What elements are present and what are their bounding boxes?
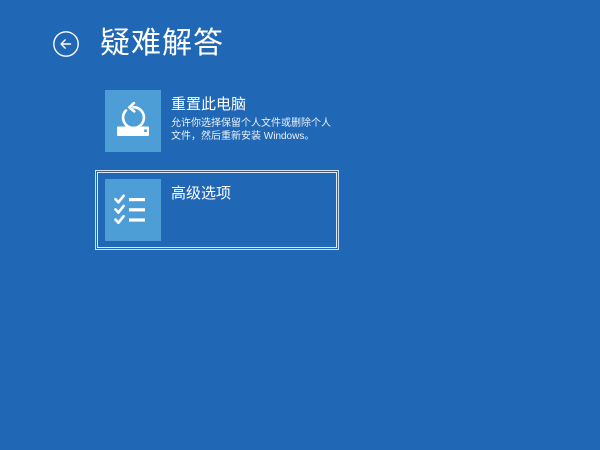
option-description-line: 允许你选择保留个人文件或删除个人 [171,117,331,130]
option-advanced-options[interactable]: 高级选项 [97,172,337,248]
option-description: 允许你选择保留个人文件或删除个人 文件，然后重新安装 Windows。 [171,117,331,143]
option-reset-this-pc[interactable]: 重置此电脑 允许你选择保留个人文件或删除个人 文件，然后重新安装 Windows… [97,83,337,159]
option-title: 重置此电脑 [171,95,331,114]
page-title: 疑难解答 [100,27,224,61]
checklist-icon [105,179,161,241]
reset-pc-icon [105,90,161,152]
option-text: 重置此电脑 允许你选择保留个人文件或删除个人 文件，然后重新安装 Windows… [171,90,331,143]
recovery-screen: 疑难解答 重置此电脑 允许你选择保留个人文件或删除个人 文件，然后重新安装 Wi… [0,0,600,450]
option-description-line: 文件，然后重新安装 Windows。 [171,130,331,143]
page-header: 疑难解答 [52,22,224,66]
option-list: 重置此电脑 允许你选择保留个人文件或删除个人 文件，然后重新安装 Windows… [97,83,337,248]
option-title: 高级选项 [171,184,231,203]
back-arrow-icon[interactable] [52,30,80,58]
option-text: 高级选项 [171,179,231,203]
